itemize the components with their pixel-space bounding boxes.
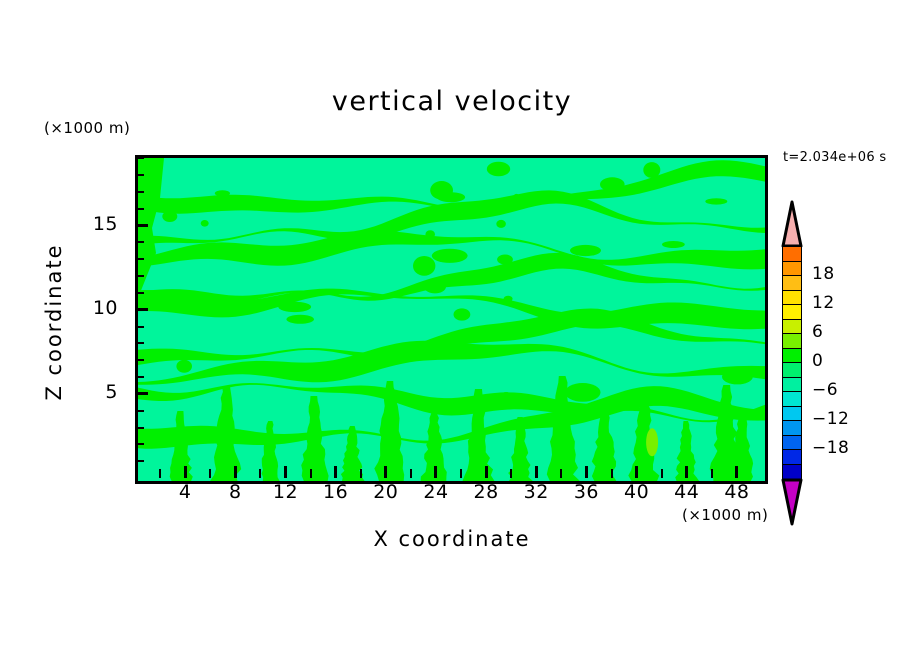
y-axis-unit-label: (×1000 m) (44, 119, 130, 137)
contour-blob (722, 369, 753, 384)
y-tick (135, 410, 144, 412)
y-tick (135, 342, 144, 344)
x-tick (585, 466, 588, 478)
x-tick (460, 469, 462, 478)
contour-blob (176, 360, 192, 373)
x-axis-title: X coordinate (0, 527, 904, 551)
contour-blob (215, 190, 230, 196)
contour-blob (162, 211, 177, 222)
timestamp-annotation: t=2.034e+06 s (783, 150, 886, 165)
colorbar-over-range-cap (781, 200, 803, 248)
contour-blob (454, 308, 471, 320)
y-tick (135, 443, 144, 445)
chart-title: vertical velocity (0, 86, 904, 117)
colorbar (782, 246, 802, 478)
contour-blob (201, 220, 209, 227)
y-tick (135, 241, 144, 243)
contour-blob (600, 177, 625, 191)
vertical-velocity-field (138, 158, 765, 481)
x-tick-label: 16 (314, 481, 358, 503)
contour-blob (424, 280, 446, 294)
x-tick (184, 466, 187, 478)
y-tick (135, 326, 144, 328)
y-tick (135, 460, 144, 462)
x-tick (560, 469, 562, 478)
contour-blob (512, 194, 521, 208)
plot-canvas: vertical velocity (×1000 m) t=2.034e+06 … (0, 0, 904, 654)
contour-blob (570, 245, 601, 256)
contour-blob (425, 230, 435, 238)
contour-blob (432, 249, 468, 263)
contour-blob (565, 383, 601, 402)
x-tick (535, 466, 538, 478)
contour-blob (496, 220, 506, 228)
y-tick (135, 376, 144, 378)
x-tick-label: 48 (715, 481, 759, 503)
contour-blob (499, 392, 514, 409)
colorbar-label: 18 (812, 264, 835, 284)
x-tick (635, 466, 638, 478)
x-tick (485, 466, 488, 478)
colorbar-label: −6 (812, 380, 838, 400)
colorbar-label: −18 (812, 438, 849, 458)
x-axis-unit-label: (×1000 m) (682, 506, 768, 524)
colorbar-label: −12 (812, 409, 849, 429)
x-tick (510, 469, 512, 478)
y-tick-label: 10 (84, 297, 118, 319)
x-tick-label: 40 (615, 481, 659, 503)
x-tick (234, 466, 237, 478)
contour-blob (278, 302, 311, 312)
y-tick (135, 258, 144, 260)
y-tick (135, 174, 144, 176)
x-tick (284, 466, 287, 478)
contour-blob (662, 241, 685, 248)
y-tick (135, 208, 144, 210)
y-tick (135, 392, 148, 395)
x-tick-label: 28 (464, 481, 508, 503)
contour-blob (487, 162, 510, 177)
y-tick (135, 157, 144, 159)
y-tick (135, 308, 148, 311)
x-tick (611, 469, 613, 478)
y-tick (135, 275, 144, 277)
y-tick (135, 359, 144, 361)
x-tick (209, 469, 211, 478)
x-tick (434, 466, 437, 478)
colorbar-label: 12 (812, 293, 835, 313)
x-tick-label: 36 (564, 481, 608, 503)
x-tick-label: 12 (263, 481, 307, 503)
contour-blob (430, 181, 453, 200)
contour-blob (643, 162, 660, 178)
x-tick (384, 466, 387, 478)
contour-blob (504, 296, 513, 302)
y-axis-title: Z coordinate (42, 222, 66, 422)
x-tick-label: 8 (213, 481, 257, 503)
x-tick-label: 4 (163, 481, 207, 503)
x-tick (334, 466, 337, 478)
contour-blob (497, 255, 513, 265)
contour-blob (413, 256, 435, 276)
x-tick-label: 44 (665, 481, 709, 503)
colorbar-label: 6 (812, 322, 823, 342)
x-tick (711, 469, 713, 478)
x-tick-label: 24 (414, 481, 458, 503)
y-tick (135, 292, 144, 294)
x-tick (159, 469, 161, 478)
x-tick-label: 20 (364, 481, 408, 503)
x-tick (735, 466, 738, 478)
y-tick-label: 15 (84, 213, 118, 235)
y-tick (135, 191, 144, 193)
y-tick (135, 224, 148, 227)
x-tick (310, 469, 312, 478)
x-tick (410, 469, 412, 478)
x-tick (360, 469, 362, 478)
x-tick (661, 469, 663, 478)
y-tick (135, 427, 144, 429)
colorbar-under-range-cap (781, 476, 803, 526)
x-tick-label: 32 (514, 481, 558, 503)
x-tick (685, 466, 688, 478)
contour-plot-area (135, 155, 768, 484)
y-tick-label: 5 (84, 381, 118, 403)
contour-blob (705, 198, 727, 204)
colorbar-label: 0 (812, 351, 823, 371)
updraft-core (646, 428, 658, 456)
contour-blob (286, 315, 314, 324)
x-tick (259, 469, 261, 478)
